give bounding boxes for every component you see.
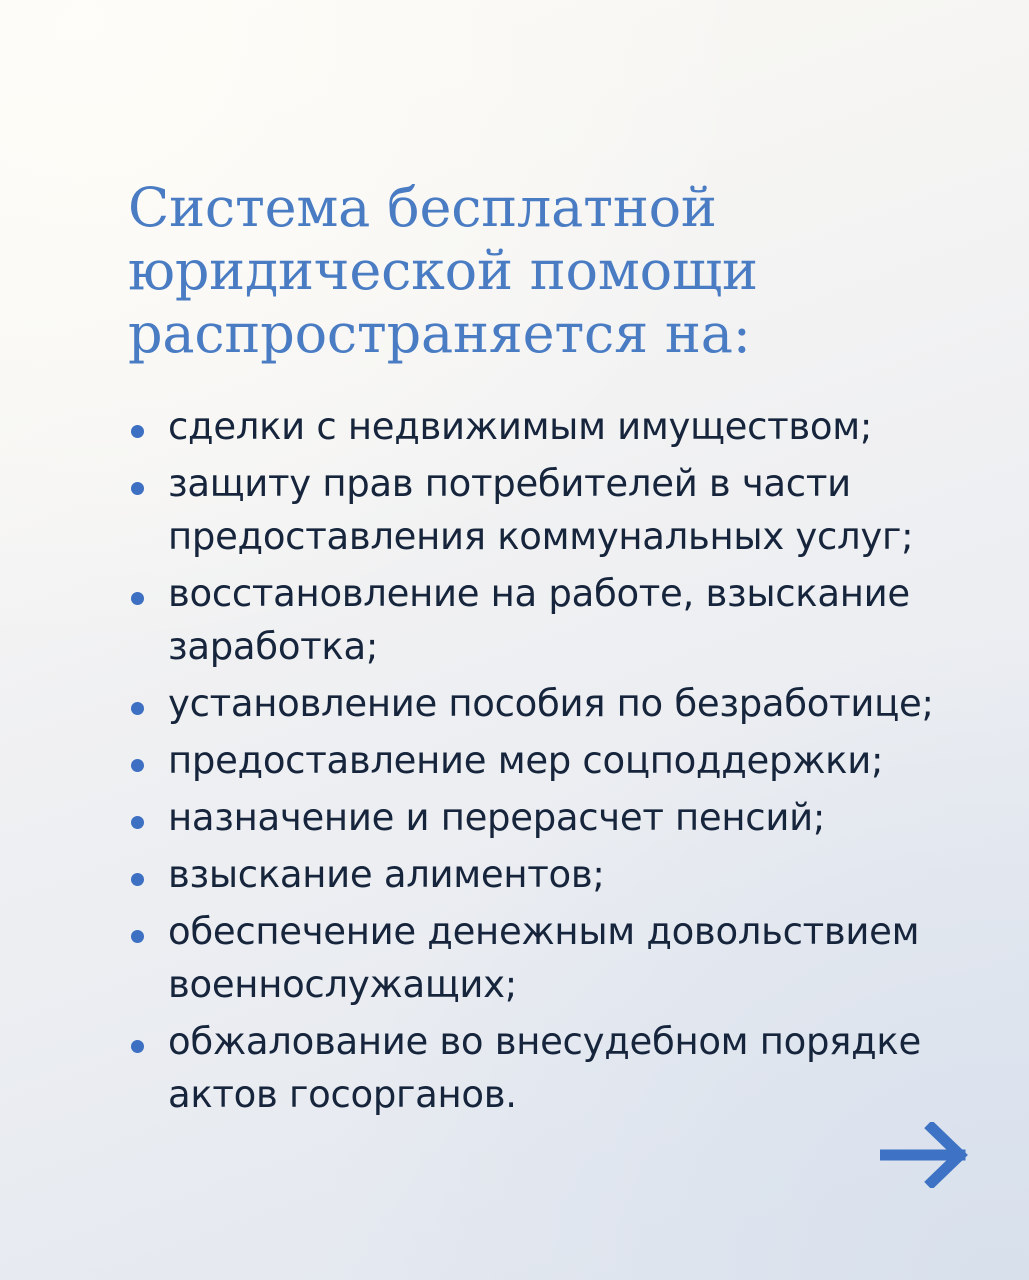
list-item: назначение и перерасчет пенсий;	[126, 791, 986, 844]
list-item: защиту прав потребителей в части предост…	[126, 457, 986, 563]
list-item: предоставление мер соцподдержки;	[126, 734, 986, 787]
next-slide-button[interactable]	[880, 1122, 972, 1188]
list-item: обеспечение денежным довольствием военно…	[126, 905, 986, 1011]
list-item-label: предоставление мер соцподдержки;	[168, 734, 986, 787]
list-item-label: сделки с недвижимым имуществом;	[168, 400, 986, 453]
list-item: установление пособия по безработице;	[126, 677, 986, 730]
slide-canvas: Система бесплатной юридической помощи ра…	[0, 0, 1029, 1280]
bullet-dot-icon	[131, 1040, 144, 1053]
bullet-dot-icon	[131, 702, 144, 715]
list-item-label: взыскание алиментов;	[168, 848, 986, 901]
bullet-dot-icon	[131, 930, 144, 943]
list-item-label: установление пособия по безработице;	[168, 677, 986, 730]
list-item-label: обеспечение денежным довольствием военно…	[168, 905, 986, 1011]
list-item-label: восстановление на работе, взыскание зара…	[168, 567, 986, 673]
bullet-dot-icon	[131, 759, 144, 772]
bullet-dot-icon	[131, 873, 144, 886]
list-item: обжалование во внесудебном порядке актов…	[126, 1015, 986, 1121]
list-item: восстановление на работе, взыскание зара…	[126, 567, 986, 673]
list-item: сделки с недвижимым имуществом;	[126, 400, 986, 453]
bullet-dot-icon	[131, 592, 144, 605]
coverage-list: сделки с недвижимым имуществом; защиту п…	[126, 400, 986, 1125]
bullet-dot-icon	[131, 425, 144, 438]
list-item-label: обжалование во внесудебном порядке актов…	[168, 1015, 986, 1121]
list-item: взыскание алиментов;	[126, 848, 986, 901]
page-title: Система бесплатной юридической помощи ра…	[128, 176, 788, 365]
bullet-dot-icon	[131, 482, 144, 495]
arrow-right-icon	[880, 1122, 972, 1188]
list-item-label: защиту прав потребителей в части предост…	[168, 457, 986, 563]
list-item-label: назначение и перерасчет пенсий;	[168, 791, 986, 844]
bullet-dot-icon	[131, 816, 144, 829]
